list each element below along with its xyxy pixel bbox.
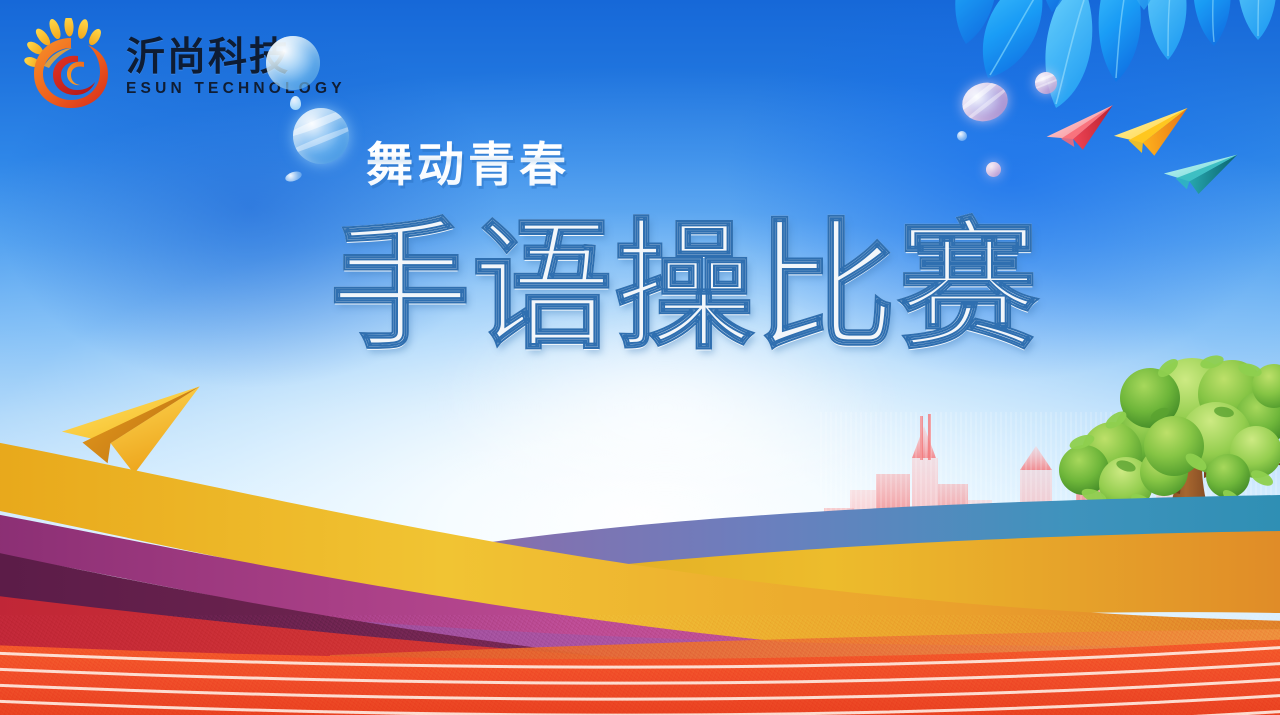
- brand-name-en: ESUN TECHNOLOGY: [126, 81, 346, 97]
- bubble-violet-dot: [986, 162, 1001, 177]
- poster-canvas: 沂尚科技 ESUN TECHNOLOGY 舞动青春 手语操比赛: [0, 0, 1280, 715]
- bubble-highlight: [293, 108, 349, 164]
- logo-decor-bubble: [266, 36, 320, 90]
- paper-plane-teal-icon: [1158, 147, 1239, 198]
- sun-swirl-logo-icon: [22, 18, 120, 110]
- poster-title-text: 手语操比赛: [330, 206, 1040, 369]
- ground-color-waves: [0, 345, 1280, 715]
- poster-subtitle: 舞动青春: [366, 126, 570, 195]
- bubble-highlight: [1035, 72, 1057, 94]
- bubble-white-dot: [957, 131, 967, 141]
- logo-decor-droplet: [290, 96, 301, 110]
- bubble-blue-large: [293, 108, 349, 164]
- bubble-pink-small: [1035, 72, 1057, 94]
- poster-title: 手语操比赛: [330, 218, 1040, 358]
